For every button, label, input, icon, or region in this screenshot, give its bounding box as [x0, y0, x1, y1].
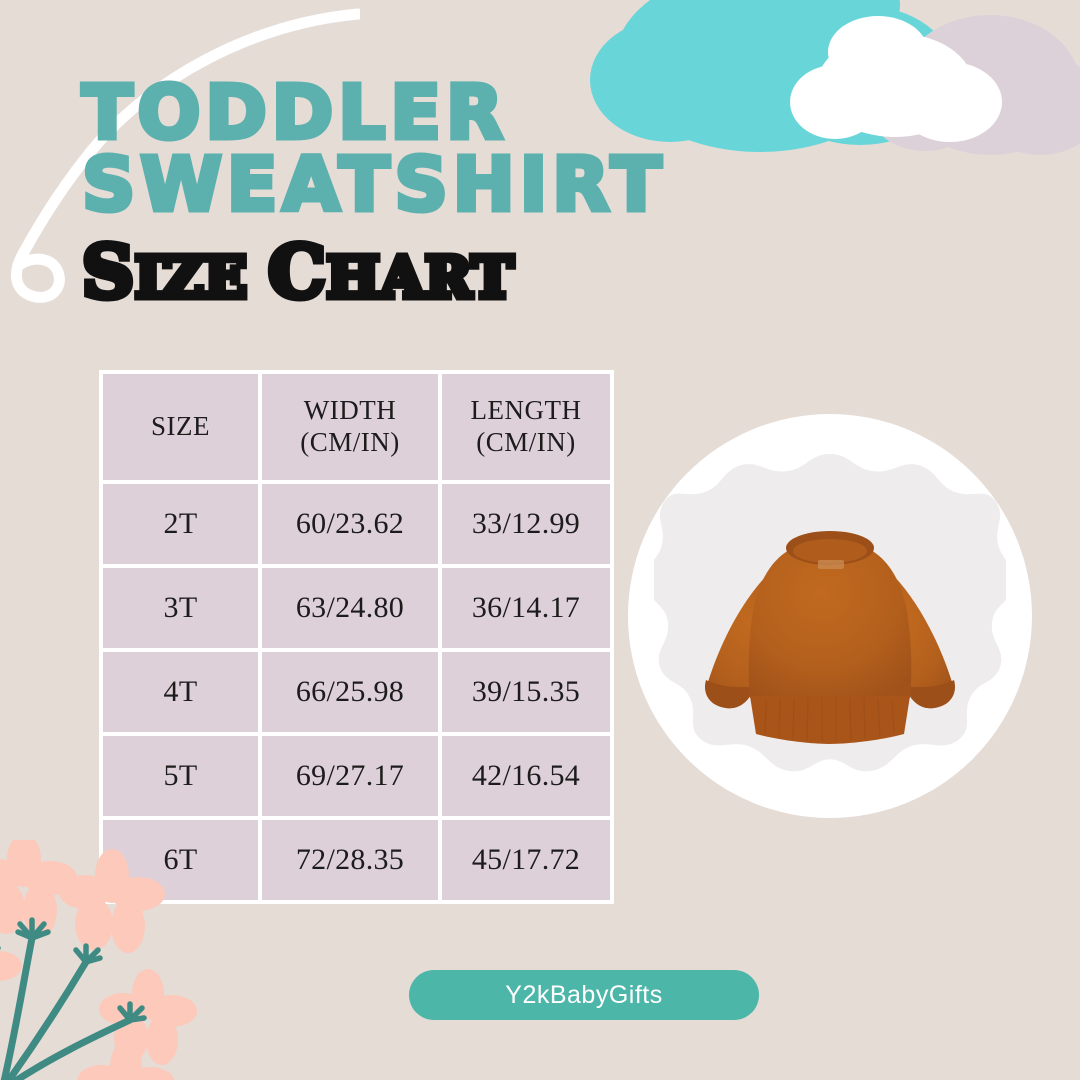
title-line-sweatshirt: SWEATSHIRT	[82, 150, 762, 222]
cell-width: 66/25.98	[262, 652, 438, 732]
size-chart-table: SIZE WIDTH (CM/IN) LENGTH (CM/IN) 2T 60/…	[99, 370, 614, 904]
table-row: 3T 63/24.80 36/14.17	[103, 568, 610, 648]
brand-badge: Y2kBabyGifts	[409, 970, 759, 1020]
lavender-cloud	[867, 15, 1080, 155]
table-header: SIZE WIDTH (CM/IN) LENGTH (CM/IN)	[103, 374, 610, 480]
flower-centers	[0, 920, 144, 1020]
table-row: 6T 72/28.35 45/17.72	[103, 820, 610, 900]
title-c-cap: C	[268, 229, 326, 314]
white-cloud	[790, 16, 1002, 142]
cell-width: 69/27.17	[262, 736, 438, 816]
cell-length: 33/12.99	[442, 484, 610, 564]
title-s-cap: S	[82, 229, 135, 314]
flower-stems	[0, 938, 130, 1080]
cell-size: 2T	[103, 484, 258, 564]
cell-size: 6T	[103, 820, 258, 900]
brand-label: Y2kBabyGifts	[505, 981, 662, 1010]
cell-length: 36/14.17	[442, 568, 610, 648]
cell-width: 72/28.35	[262, 820, 438, 900]
cell-size: 3T	[103, 568, 258, 648]
cell-length: 42/16.54	[442, 736, 610, 816]
table-body: 2T 60/23.62 33/12.99 3T 63/24.80 36/14.1…	[103, 484, 610, 900]
table-row: 4T 66/25.98 39/15.35	[103, 652, 610, 732]
title-line-toddler: TODDLER	[82, 78, 762, 150]
cell-width: 63/24.80	[262, 568, 438, 648]
table-row: 2T 60/23.62 33/12.99	[103, 484, 610, 564]
column-header-width: WIDTH (CM/IN)	[262, 374, 438, 480]
title-hart: HART	[327, 245, 515, 311]
title-ize: IZE	[135, 245, 268, 311]
product-photo-circle	[628, 414, 1032, 818]
page-title-block: TODDLER SWEATSHIRT SIZE CHART	[82, 78, 762, 308]
table-row: 5T 69/27.17 42/16.54	[103, 736, 610, 816]
size-chart-canvas: TODDLER SWEATSHIRT SIZE CHART SIZE WIDTH…	[0, 0, 1080, 1080]
photo-inner-area	[654, 440, 1006, 792]
cell-size: 5T	[103, 736, 258, 816]
cell-length: 45/17.72	[442, 820, 610, 900]
table-header-row: SIZE WIDTH (CM/IN) LENGTH (CM/IN)	[103, 374, 610, 480]
title-line-size-chart: SIZE CHART	[82, 236, 762, 308]
column-header-length: LENGTH (CM/IN)	[442, 374, 610, 480]
cell-length: 39/15.35	[442, 652, 610, 732]
column-header-size: SIZE	[103, 374, 258, 480]
cell-size: 4T	[103, 652, 258, 732]
cell-width: 60/23.62	[262, 484, 438, 564]
